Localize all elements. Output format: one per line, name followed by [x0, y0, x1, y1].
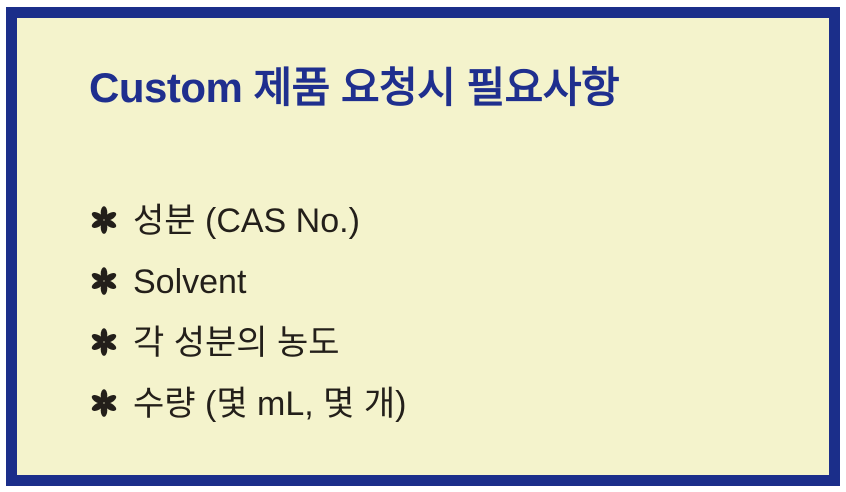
six-petal-flower-bullet-icon — [89, 318, 133, 368]
page-title: Custom 제품 요청시 필요사항 — [89, 63, 619, 113]
requirements-list: 성분 (CAS No.) — [89, 196, 407, 440]
list-item-label: Solvent — [133, 257, 246, 307]
six-petal-flower-bullet-icon — [89, 196, 133, 246]
list-item-label: 성분 (CAS No.) — [133, 196, 360, 246]
list-item: Solvent — [89, 257, 407, 318]
panel-interior: Custom 제품 요청시 필요사항 — [17, 18, 829, 475]
six-petal-flower-bullet-icon — [89, 257, 133, 307]
bordered-panel: Custom 제품 요청시 필요사항 — [6, 7, 840, 486]
list-item: 성분 (CAS No.) — [89, 196, 407, 257]
list-item-label: 수량 (몇 mL, 몇 개) — [133, 379, 407, 429]
six-petal-flower-bullet-icon — [89, 379, 133, 429]
slide-canvas: Custom 제품 요청시 필요사항 — [0, 0, 846, 492]
list-item: 수량 (몇 mL, 몇 개) — [89, 379, 407, 440]
list-item-label: 각 성분의 농도 — [133, 318, 340, 368]
list-item: 각 성분의 농도 — [89, 318, 407, 379]
